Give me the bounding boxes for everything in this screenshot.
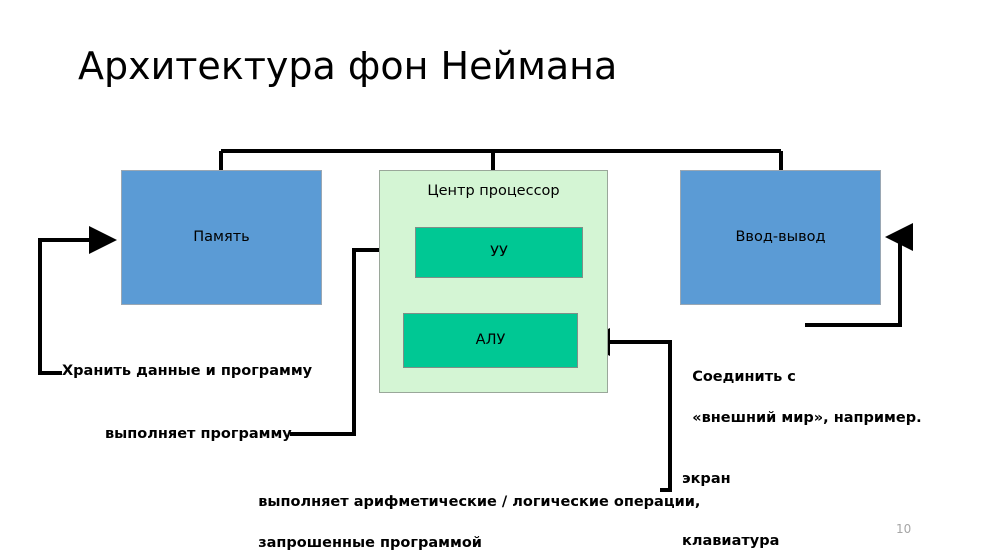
connector-memory-note [40,240,113,373]
node-io-label: Ввод-вывод [735,229,825,246]
annotation-io-line-3: экран [672,469,930,490]
node-io[interactable]: Ввод-вывод [680,170,881,305]
node-memory-label: Память [193,229,249,246]
annotation-io-line-1: Соединить с [692,369,796,385]
annotation-alu-operations: выполняет арифметические / логические оп… [238,471,700,557]
page-number: 10 [896,522,911,536]
annotation-io-line-4: клавиатура [672,531,930,552]
annotation-io-external-world: Соединить с «внешний мир», например. экр… [672,346,930,557]
node-control-unit-label: УУ [490,244,508,261]
system-bus [221,151,781,170]
node-control-unit[interactable]: УУ [415,227,583,278]
node-cpu-label: Центр процессор [380,183,607,199]
page-title: Архитектура фон Неймана [78,44,617,88]
slide-canvas: Архитектура фон Неймана [0,0,988,557]
annotation-io-line-2: «внешний мир», например. [692,410,921,426]
annotation-store-data: Хранить данные и программу [62,361,312,382]
annotation-alu-line-1: выполняет арифметические / логические оп… [258,494,700,510]
node-alu[interactable]: АЛУ [403,313,578,368]
annotation-alu-line-2: запрошенные программой [258,535,482,551]
annotation-execute-program: выполняет программу [105,424,292,445]
node-memory[interactable]: Память [121,170,322,305]
node-alu-label: АЛУ [476,332,506,349]
